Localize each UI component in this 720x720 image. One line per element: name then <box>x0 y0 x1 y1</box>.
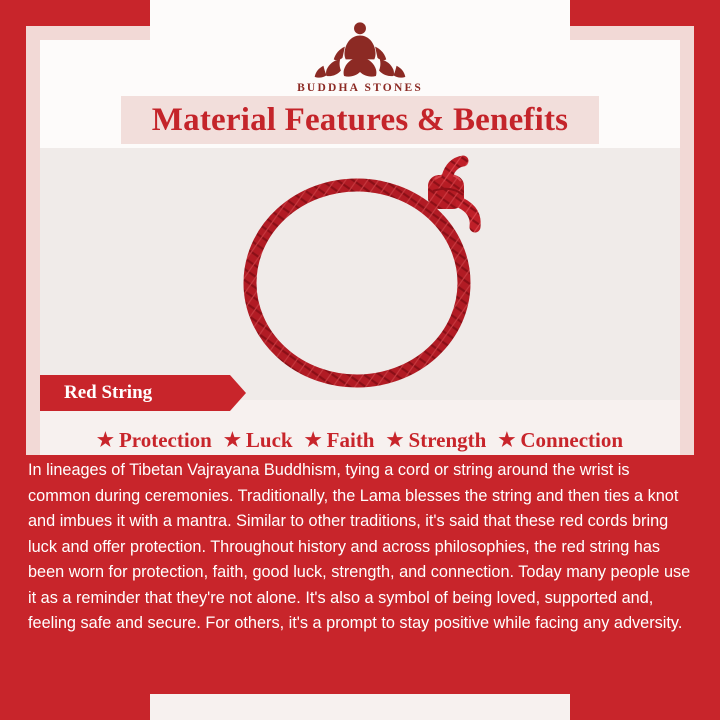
benefit-item-luck: ★ Luck <box>218 428 299 453</box>
benefit-label: Faith <box>327 428 375 453</box>
star-icon: ★ <box>498 431 515 450</box>
benefit-label: Luck <box>246 428 293 453</box>
benefit-item-protection: ★ Protection <box>91 428 218 453</box>
description-text: In lineages of Tibetan Vajrayana Buddhis… <box>26 458 694 637</box>
benefit-label: Protection <box>119 428 212 453</box>
brand-block: BUDDHA STONES <box>0 18 720 94</box>
benefit-label: Connection <box>520 428 623 453</box>
red-string-bracelet-image <box>215 155 510 395</box>
page-title: Material Features & Benefits <box>0 96 720 144</box>
benefit-item-faith: ★ Faith <box>299 428 381 453</box>
star-icon: ★ <box>224 431 241 450</box>
frame-corner-bottom-right <box>570 694 720 720</box>
star-icon: ★ <box>97 431 114 450</box>
benefit-item-strength: ★ Strength <box>381 428 493 453</box>
benefits-row: ★ Protection ★ Luck ★ Faith ★ Strength ★… <box>40 420 680 460</box>
star-icon: ★ <box>387 431 404 450</box>
product-label-tab-notch <box>230 375 246 411</box>
frame-corner-bottom-left <box>0 694 150 720</box>
infographic-page: BUDDHA STONES Material Features & Benefi… <box>0 0 720 720</box>
benefit-label: Strength <box>409 428 487 453</box>
product-label: Red String <box>64 375 152 411</box>
benefit-item-connection: ★ Connection <box>492 428 629 453</box>
brand-name: BUDDHA STONES <box>0 82 720 94</box>
star-icon: ★ <box>305 431 322 450</box>
buddha-lotus-icon <box>312 18 408 80</box>
